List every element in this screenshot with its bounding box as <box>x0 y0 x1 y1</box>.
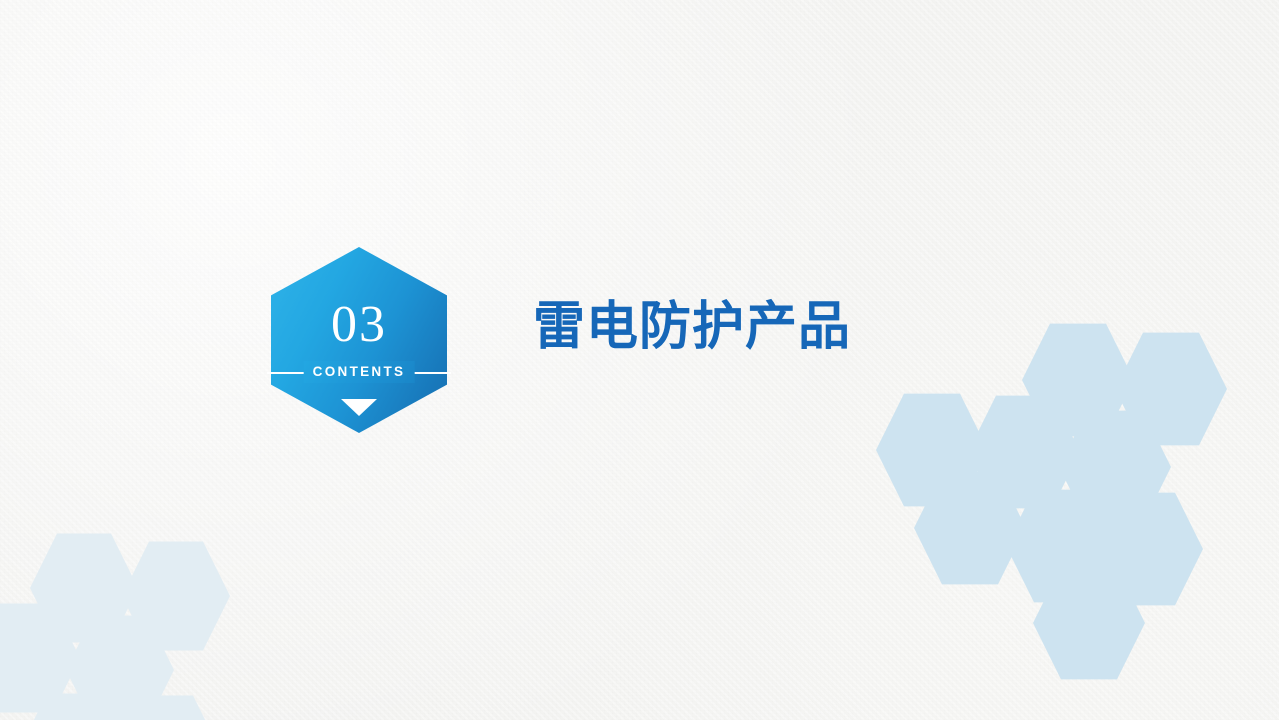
background-texture <box>0 0 1279 720</box>
hexagon-shape <box>914 468 1026 588</box>
hexagon-shape <box>0 600 80 716</box>
hexagon-shape <box>66 612 174 720</box>
hexagon-shape <box>1115 329 1227 449</box>
hexagon-shape <box>1091 489 1203 609</box>
hexagon-shape <box>112 692 220 720</box>
section-badge: 03 CONTENTS <box>271 247 447 433</box>
triangle-down-icon <box>341 399 377 416</box>
hexagon-shape <box>1033 563 1145 683</box>
section-number: 03 <box>331 299 387 351</box>
hexagon-shape <box>30 530 138 646</box>
section-title: 雷电防护产品 <box>533 296 851 358</box>
hexagon-shape <box>968 392 1080 512</box>
badge-contents-label: CONTENTS <box>304 361 415 383</box>
hexagon-shape <box>1022 320 1134 440</box>
hexagon-shape <box>876 390 988 510</box>
hexagon-shape <box>1059 407 1171 527</box>
hexagon-shape <box>1006 486 1118 606</box>
hexagon-shape <box>20 690 128 720</box>
presentation-slide: 03 CONTENTS 雷电防护产品 <box>0 0 1279 720</box>
hexagon-shape <box>122 538 230 654</box>
